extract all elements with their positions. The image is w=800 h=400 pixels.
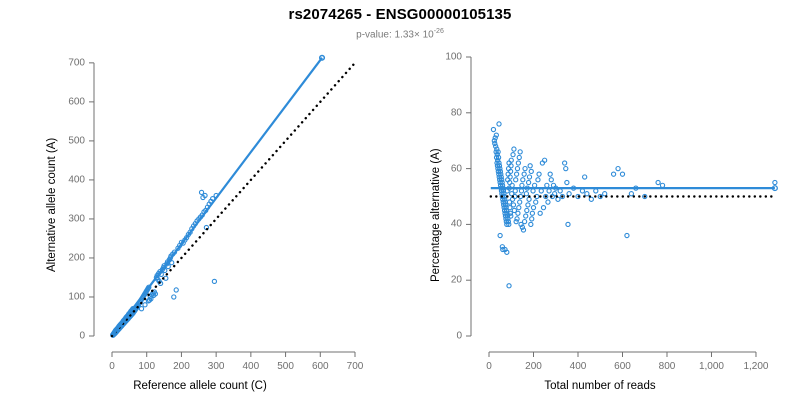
data-point [517,206,521,210]
data-point [523,220,527,224]
data-point [620,172,624,176]
data-point [594,189,598,193]
data-point [519,189,523,193]
data-point [558,189,562,193]
data-point [539,189,543,193]
x-tick-label: 200 [525,361,542,372]
data-point [172,295,176,299]
data-point [545,183,549,187]
x-tick-label: 200 [173,361,190,372]
data-point [549,178,553,182]
y-tick-label: 500 [68,135,85,146]
data-point [511,203,515,207]
data-point [522,172,526,176]
x-tick-label: 0 [109,361,115,372]
x-tick-label: 600 [614,361,631,372]
data-point [565,180,569,184]
data-point [491,127,495,131]
data-point [529,169,533,173]
x-tick-label: 700 [347,361,364,372]
x-tick-label: 400 [570,361,587,372]
data-point [516,161,520,165]
data-point [566,222,570,226]
data-point [497,122,501,126]
data-point [556,197,560,201]
y-tick-label: 100 [68,291,85,302]
x-tick-label: 100 [138,361,155,372]
reference-line [112,63,355,336]
y-tick-label: 60 [451,163,462,174]
plot-area-allele-counts [0,0,400,400]
data-point [516,211,520,215]
data-point [541,206,545,210]
data-point [531,206,535,210]
data-point [583,175,587,179]
x-tick-label: 1,200 [743,361,768,372]
data-point [513,189,517,193]
x-tick-label: 600 [312,361,329,372]
data-point [563,161,567,165]
y-tick-label: 200 [68,252,85,263]
data-point [529,222,533,226]
data-point [170,261,174,265]
y-tick-label: 20 [451,275,462,286]
data-point [538,211,542,215]
data-point [527,197,531,201]
data-point [507,284,511,288]
y-tick-label: 700 [68,57,85,68]
data-point [603,192,607,196]
data-point [518,200,522,204]
data-point [139,307,143,311]
data-point [524,214,528,218]
x-tick-label: 0 [486,361,492,372]
x-tick-label: 1,000 [699,361,724,372]
data-point [773,180,777,184]
y-tick-label: 400 [68,174,85,185]
panel-percentage-alternative: Total number of reads Percentage alterna… [400,0,800,400]
data-point [174,288,178,292]
data-point [514,178,518,182]
data-point [534,200,538,204]
y-tick-label: 0 [79,331,85,342]
x-tick-label: 800 [659,361,676,372]
data-point [656,180,660,184]
x-tick-label: 300 [208,361,225,372]
y-tick-label: 0 [456,331,462,342]
data-point [616,167,620,171]
data-point [531,189,535,193]
x-axis-title-right: Total number of reads [400,380,800,392]
data-point [611,172,615,176]
data-point [548,172,552,176]
x-tick-label: 400 [243,361,260,372]
data-point [567,192,571,196]
data-point [527,180,531,184]
data-point [580,189,584,193]
data-point [527,175,531,179]
data-point [564,167,568,171]
data-point [510,183,514,187]
data-point [521,178,525,182]
data-point [517,155,521,159]
data-point [625,233,629,237]
x-tick-label: 500 [277,361,294,372]
data-point [533,183,537,187]
panel-allele-counts: Reference allele count (C) Alternative a… [0,0,400,400]
data-point [528,164,532,168]
data-point [518,150,522,154]
data-point [546,200,550,204]
y-tick-label: 600 [68,96,85,107]
data-point [143,303,147,307]
data-point [524,192,528,196]
data-point [512,147,516,151]
data-point [511,153,515,157]
data-point [515,167,519,171]
data-point [514,172,518,176]
data-point [589,197,593,201]
data-point [525,208,529,212]
y-tick-label: 300 [68,213,85,224]
data-point [530,217,534,221]
data-point [629,192,633,196]
fitted-line [113,58,322,335]
data-point [660,183,664,187]
data-point [526,203,530,207]
data-point [585,192,589,196]
data-point [212,279,216,283]
data-point [537,172,541,176]
y-axis-title-left: Alternative allele count (A) [46,138,58,272]
data-point [547,189,551,193]
figure-root: rs2074265 - ENSG00000105135 p-value: 1.3… [0,0,800,400]
data-point [498,233,502,237]
scatter-points [491,122,777,288]
data-point [520,183,524,187]
data-point [523,167,527,171]
data-point [530,211,534,215]
y-tick-label: 40 [451,219,462,230]
y-axis-title-right: Percentage alternative (A) [430,148,442,282]
y-tick-label: 100 [445,52,462,63]
data-point [536,178,540,182]
x-axis-title-left: Reference allele count (C) [0,380,400,392]
y-tick-label: 80 [451,107,462,118]
